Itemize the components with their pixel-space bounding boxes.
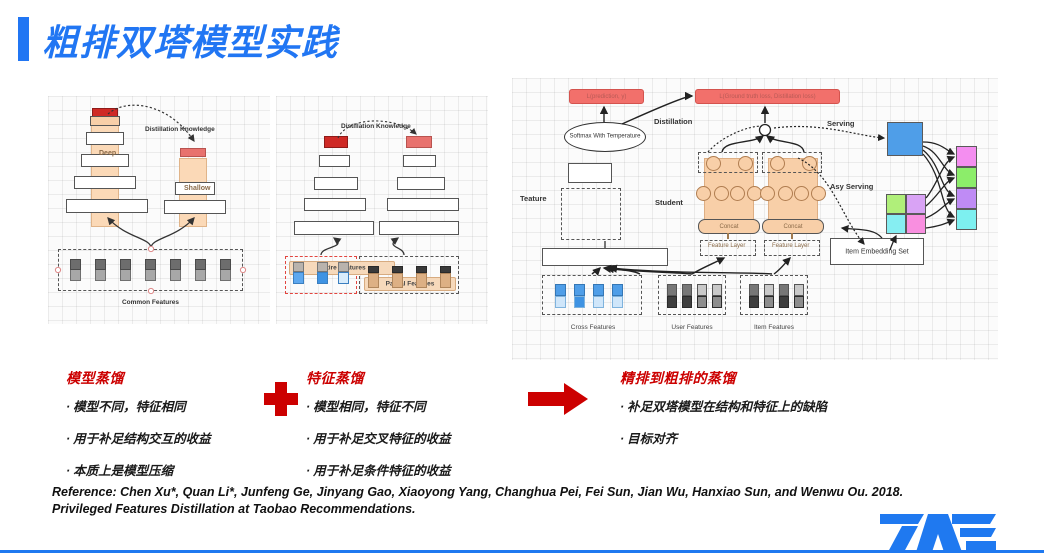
- bullet-item: 用于补足结构交互的收益: [66, 428, 211, 447]
- title-accent-bar: [18, 17, 29, 61]
- diagram-feature-distillation: Distillation Knowledge Entire Features P…: [276, 96, 488, 324]
- diagram-mid-connectors: [276, 96, 488, 324]
- plus-sign-icon: [264, 382, 298, 416]
- section-heading: 精排到粗排的蒸馏: [620, 368, 827, 388]
- page-title: 粗排双塔模型实践: [42, 14, 338, 66]
- section-feature-distillation: 特征蒸馏 模型相同，特征不同 用于补足交叉特征的收益 用于补足条件特征的收益: [306, 368, 451, 492]
- bullet-item: 模型不同，特征相同: [66, 396, 211, 415]
- reference-line-2: Privileged Features Distillation at Taob…: [52, 501, 1002, 518]
- tme-logo: [878, 512, 998, 552]
- section-bullets: 补足双塔模型在结构和特征上的缺陷 目标对齐: [620, 396, 827, 447]
- bullet-item: 补足双塔模型在结构和特征上的缺陷: [620, 396, 827, 415]
- diagram-left-connectors: [48, 96, 270, 324]
- diagram-model-distillation: Deep Shallow Distillation Knowledge Comm…: [48, 96, 270, 324]
- section-bullets: 模型不同，特征相同 用于补足结构交互的收益 本质上是模型压缩: [66, 396, 211, 479]
- right-arrow-icon: [528, 383, 590, 415]
- reference-block: Reference: Chen Xu*, Quan Li*, Junfeng G…: [52, 484, 1002, 518]
- section-heading: 特征蒸馏: [306, 368, 451, 388]
- section-rank-distillation: 精排到粗排的蒸馏 补足双塔模型在结构和特征上的缺陷 目标对齐: [620, 368, 827, 460]
- section-model-distillation: 模型蒸馏 模型不同，特征相同 用于补足结构交互的收益 本质上是模型压缩: [66, 368, 211, 492]
- bullet-item: 用于补足交叉特征的收益: [306, 428, 451, 447]
- slide-root: 粗排双塔模型实践 Deep Shallow Distillation Knowl…: [0, 0, 1044, 557]
- bullet-item: 模型相同，特征不同: [306, 396, 451, 415]
- section-bullets: 模型相同，特征不同 用于补足交叉特征的收益 用于补足条件特征的收益: [306, 396, 451, 479]
- bullet-item: 本质上是模型压缩: [66, 460, 211, 479]
- bullet-item: 用于补足条件特征的收益: [306, 460, 451, 479]
- bullet-item: 目标对齐: [620, 428, 827, 447]
- section-heading: 模型蒸馏: [66, 368, 211, 388]
- reference-line-1: Reference: Chen Xu*, Quan Li*, Junfeng G…: [52, 484, 1002, 501]
- diagram-privileged-distillation: L(prediction, y) L(Ground truth loss, Di…: [512, 78, 998, 360]
- diagram-right-connectors: [512, 78, 998, 360]
